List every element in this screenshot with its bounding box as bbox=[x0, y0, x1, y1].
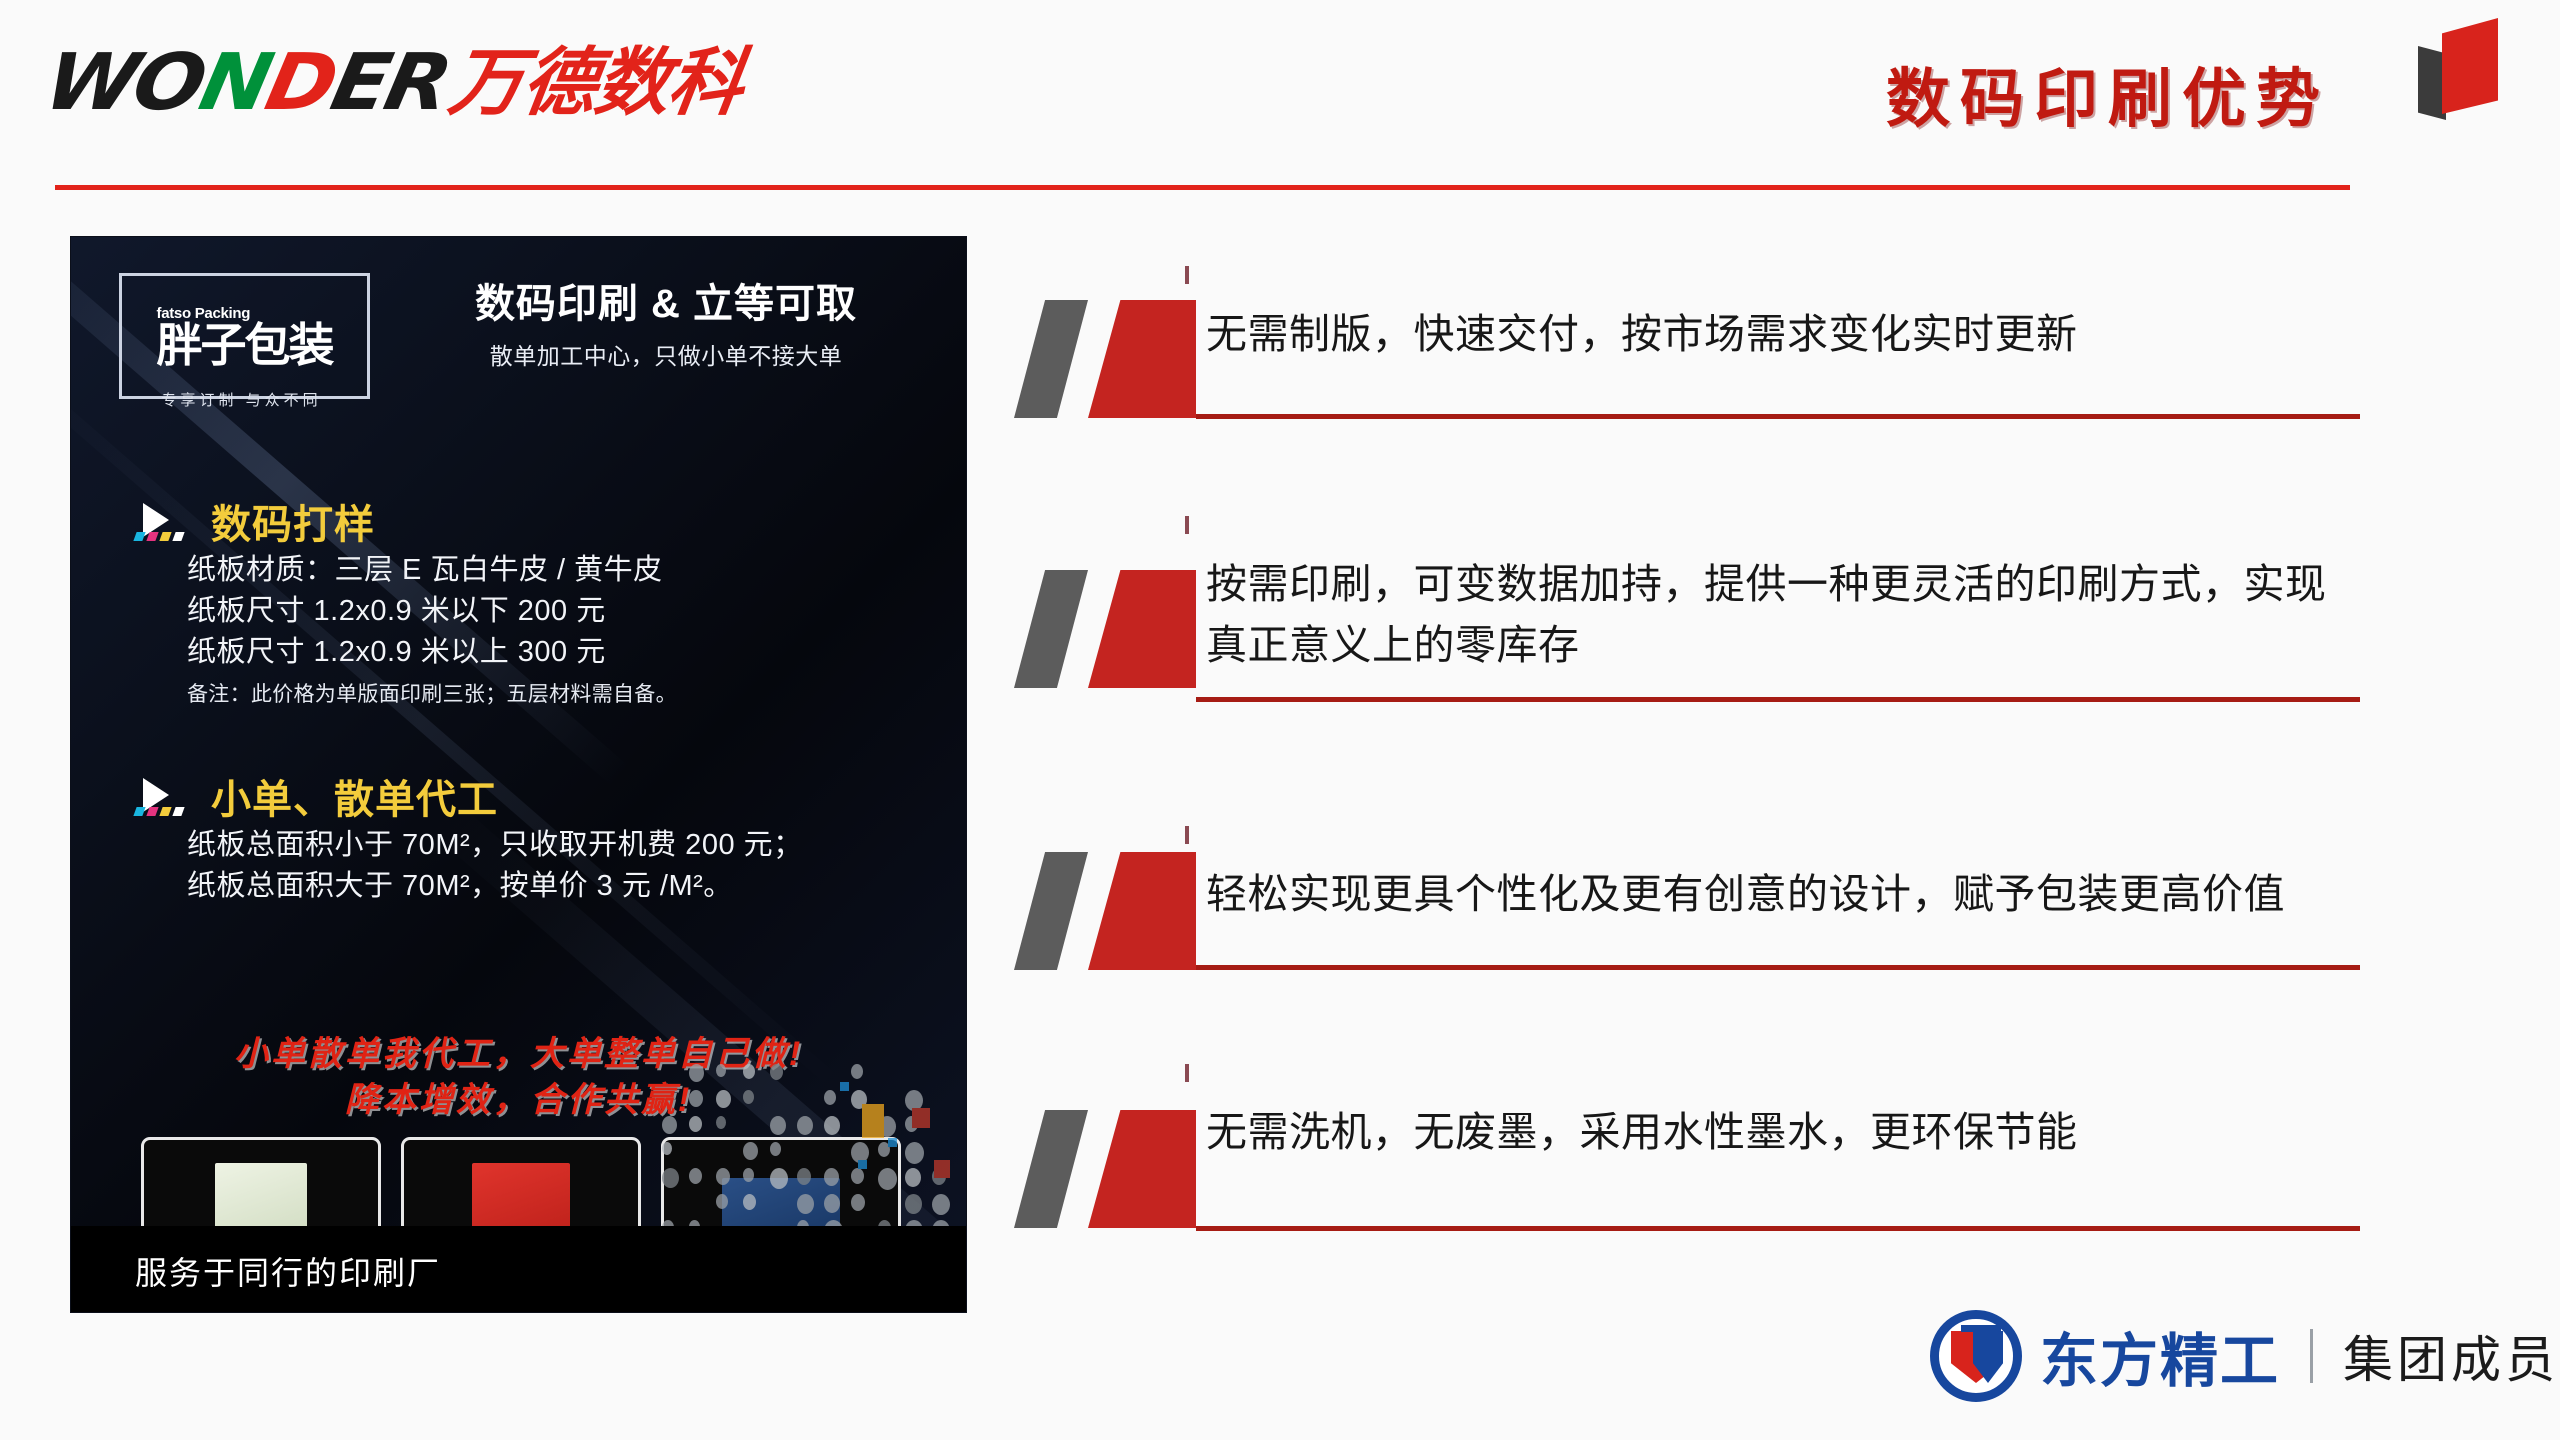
poster-section-line: 纸板尺寸 1.2x0.9 米以下 200 元 bbox=[187, 591, 925, 632]
decorative-accent bbox=[888, 1138, 897, 1147]
advantage-underline bbox=[1196, 697, 2360, 702]
advantage-text: 无需洗机，无废墨，采用水性墨水，更环保节能 bbox=[1206, 1102, 2346, 1163]
decorative-dot bbox=[851, 1064, 863, 1079]
decorative-dot bbox=[743, 1194, 756, 1210]
decorative-dot bbox=[662, 1116, 677, 1134]
wonder-logo-cn: 万德数科 bbox=[445, 48, 747, 118]
decorative-dot bbox=[689, 1090, 703, 1107]
poster-section-line: 纸板总面积小于 70M²，只收取开机费 200 元； bbox=[187, 825, 925, 866]
tick-mark bbox=[1185, 826, 1189, 844]
poster-section-title: 数码打样 bbox=[135, 492, 925, 550]
decorative-dot bbox=[824, 1090, 836, 1105]
decorative-dot bbox=[689, 1168, 702, 1184]
tick-mark bbox=[1185, 516, 1189, 534]
advantage-underline bbox=[1196, 414, 2360, 419]
dfjg-emblem-icon bbox=[1930, 1310, 2022, 1402]
decorative-dot bbox=[905, 1194, 922, 1214]
decorative-dot bbox=[716, 1116, 726, 1129]
decorative-accent bbox=[840, 1082, 849, 1091]
poster-footer-bar: 服务于同行的印刷厂 bbox=[71, 1226, 966, 1312]
footer-divider bbox=[2310, 1329, 2313, 1383]
chevron-bars-icon bbox=[1010, 570, 1200, 688]
decorative-dot bbox=[797, 1194, 814, 1214]
decorative-accent bbox=[858, 1160, 867, 1169]
chevron-arrow-icon bbox=[135, 501, 197, 541]
decorative-dot bbox=[824, 1116, 840, 1135]
advantage-text: 无需制版，快速交付，按市场需求变化实时更新 bbox=[1206, 304, 2346, 365]
decorative-dot bbox=[797, 1168, 811, 1185]
chevron-arrow-icon bbox=[135, 776, 197, 816]
tick-mark bbox=[1185, 266, 1189, 284]
poster-section-line: 纸板材质：三层 E 瓦白牛皮 / 黄牛皮 bbox=[187, 550, 925, 591]
decorative-dot bbox=[851, 1194, 865, 1211]
wonder-logo-en: WONDER bbox=[39, 48, 454, 118]
decorative-dot bbox=[770, 1064, 783, 1080]
decorative-dot bbox=[743, 1168, 754, 1182]
decorative-dot bbox=[743, 1064, 755, 1079]
decorative-dot bbox=[662, 1168, 679, 1188]
poster-section-line: 纸板总面积大于 70M²，按单价 3 元 /M²。 bbox=[187, 866, 925, 907]
decorative-dot bbox=[716, 1090, 731, 1108]
decorative-dot bbox=[743, 1090, 754, 1104]
wonder-logo: WONDER 万德数科 bbox=[58, 48, 742, 118]
dfjg-bar bbox=[1961, 1325, 2001, 1332]
folded-page-front bbox=[2442, 18, 2498, 114]
promo-poster-image: fatso Packing 胖子包装 专享订制 与众不同 数码印刷 & 立等可取… bbox=[70, 236, 967, 1313]
advantage-underline bbox=[1196, 1226, 2360, 1231]
poster-sheen bbox=[70, 357, 841, 1089]
decorative-accent bbox=[934, 1160, 950, 1178]
advantage-text: 按需印刷，可变数据加持，提供一种更灵活的印刷方式，实现真正意义上的零库存 bbox=[1206, 554, 2346, 675]
decorative-dot bbox=[932, 1194, 950, 1215]
decorative-dot bbox=[689, 1116, 702, 1132]
decorative-dot bbox=[716, 1064, 726, 1077]
poster-section-title: 小单、散单代工 bbox=[135, 767, 925, 825]
decorative-accent bbox=[862, 1104, 884, 1138]
dfjg-member-label: 集团成员 bbox=[2343, 1320, 2559, 1392]
poster-section-digital-proofing: 数码打样 纸板材质：三层 E 瓦白牛皮 / 黄牛皮 纸板尺寸 1.2x0.9 米… bbox=[135, 492, 925, 708]
poster-section-title-text: 小单、散单代工 bbox=[211, 767, 498, 825]
poster-headline: 数码印刷 & 立等可取 bbox=[401, 279, 931, 329]
decorative-dot bbox=[851, 1168, 864, 1184]
slide-header: WONDER 万德数科 数码印刷优势 bbox=[0, 0, 2560, 200]
decorative-dot bbox=[689, 1064, 704, 1082]
decorative-dot bbox=[905, 1168, 921, 1187]
decorative-dot bbox=[878, 1168, 897, 1190]
page-title: 数码印刷优势 bbox=[1886, 48, 2330, 140]
fatso-brand-cn: 胖子包装 bbox=[157, 319, 333, 371]
decorative-dot bbox=[770, 1116, 786, 1135]
decorative-dot bbox=[662, 1142, 672, 1155]
fatso-brand-tagline: 专享订制 与众不同 bbox=[119, 389, 364, 410]
chevron-bars-icon bbox=[1010, 852, 1200, 970]
decorative-dot bbox=[770, 1168, 788, 1189]
chevron-bars-icon bbox=[1010, 300, 1200, 418]
folded-page-back bbox=[2418, 46, 2446, 120]
decorative-dot bbox=[824, 1168, 839, 1186]
decorative-dot bbox=[824, 1194, 840, 1213]
dfjg-company-name: 东方精工 bbox=[2040, 1314, 2280, 1398]
advantage-underline bbox=[1196, 965, 2360, 970]
tick-mark bbox=[1185, 1064, 1189, 1082]
dongfang-jinggong-logo: 东方精工 集团成员 bbox=[1930, 1310, 2559, 1402]
decorative-dot bbox=[905, 1142, 924, 1164]
poster-headline-block: 数码印刷 & 立等可取 散单加工中心，只做小单不接大单 bbox=[401, 279, 931, 371]
chevron-bars-icon bbox=[1010, 1110, 1200, 1228]
decorative-dot bbox=[716, 1168, 730, 1185]
poster-section-line: 纸板尺寸 1.2x0.9 米以上 300 元 bbox=[187, 632, 925, 673]
decorative-dot bbox=[716, 1194, 728, 1209]
decorative-accent bbox=[912, 1108, 930, 1128]
poster-section-small-orders: 小单、散单代工 纸板总面积小于 70M²，只收取开机费 200 元； 纸板总面积… bbox=[135, 767, 925, 907]
decorative-dot bbox=[797, 1116, 813, 1135]
decorative-dot bbox=[770, 1142, 781, 1156]
header-divider bbox=[55, 185, 2350, 190]
folded-page-icon bbox=[2418, 8, 2522, 120]
fatso-brand-logo: fatso Packing 胖子包装 bbox=[119, 273, 370, 399]
poster-section-note: 备注：此价格为单版面印刷三张；五层材料需自备。 bbox=[187, 678, 925, 708]
poster-section-title-text: 数码打样 bbox=[211, 492, 375, 550]
poster-footer-text: 服务于同行的印刷厂 bbox=[135, 1248, 441, 1294]
decorative-dot bbox=[743, 1142, 758, 1160]
advantage-text: 轻松实现更具个性化及更有创意的设计，赋予包装更高价值 bbox=[1206, 864, 2346, 925]
poster-subheadline: 散单加工中心，只做小单不接大单 bbox=[401, 337, 931, 371]
